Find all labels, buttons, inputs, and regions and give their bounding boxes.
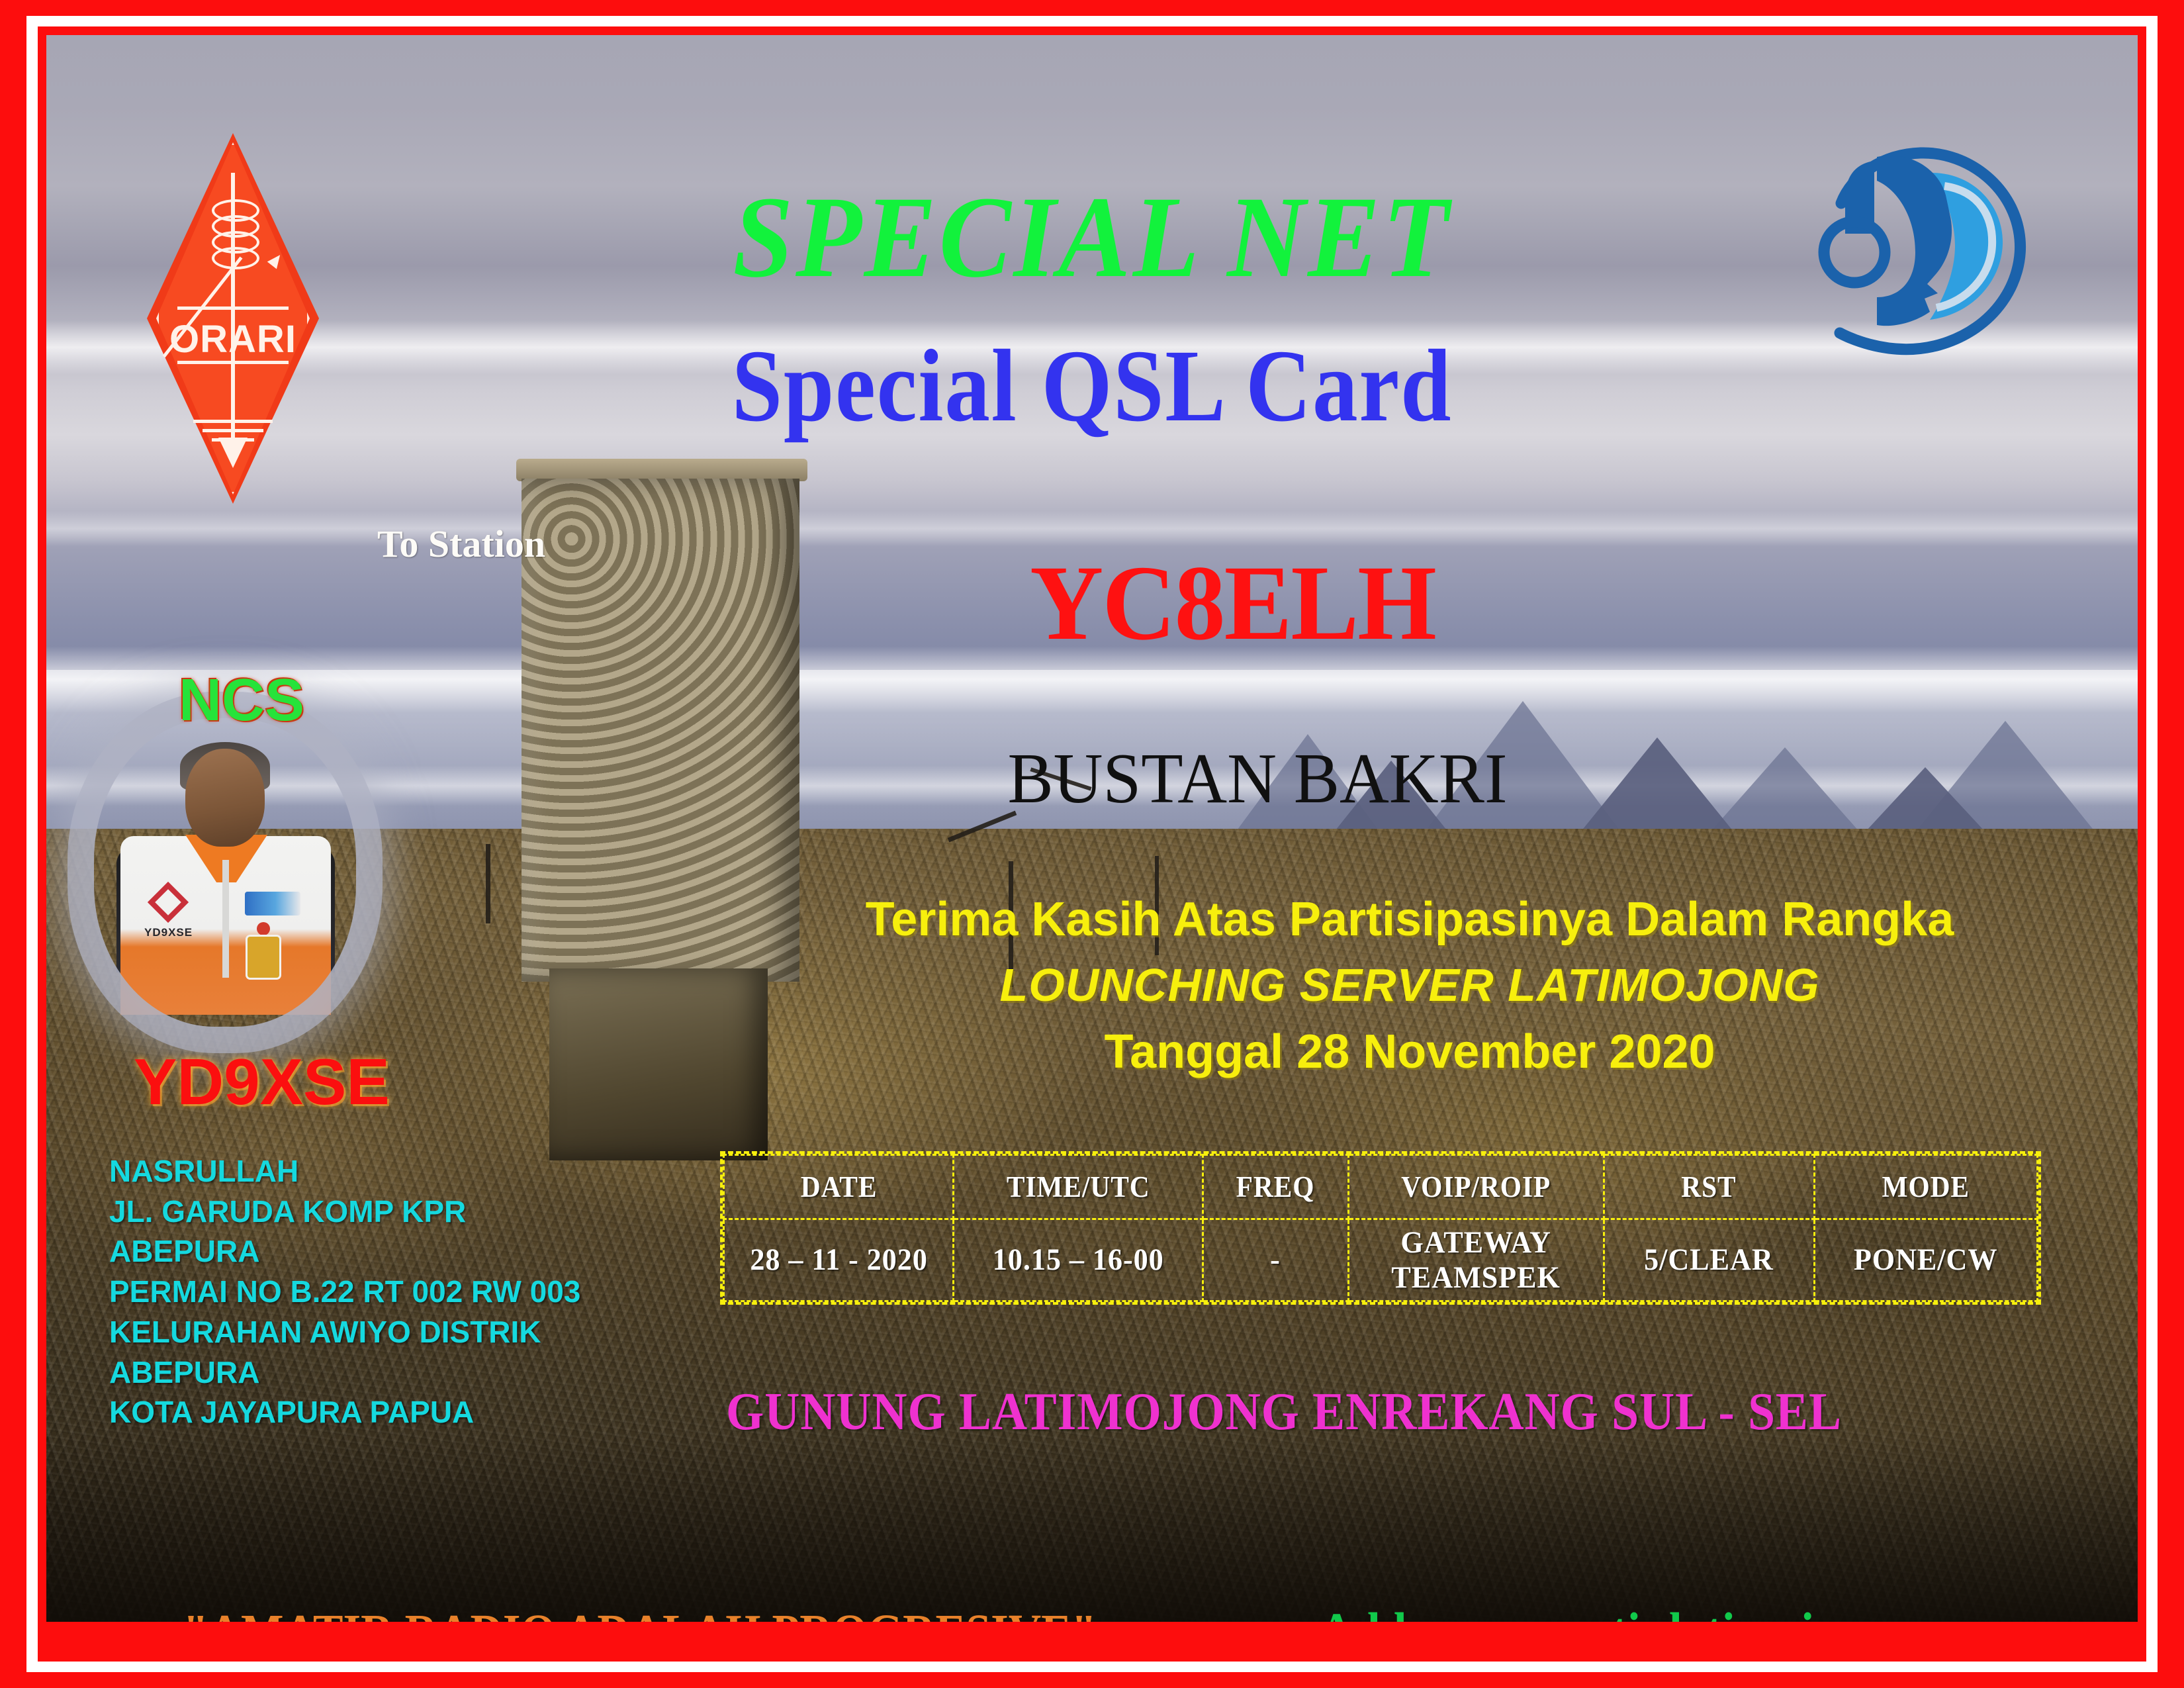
cell-date: 28 – 11 - 2020 [731, 1219, 946, 1301]
column-header-rst: RST [1612, 1155, 1805, 1219]
ncs-label: NCS [179, 671, 304, 730]
thanks-message: Terima Kasih Atas Partisipasinya Dalam R… [761, 896, 2058, 943]
motto-text: "AMATIR RADIO ADALAH PROGRESIVE" [183, 1607, 1097, 1622]
address-line: KOTA JAYAPURA PAPUA [109, 1392, 692, 1432]
card-photo-background: ORARI [46, 35, 2138, 1622]
operator-name: BUSTAN BAKRI [781, 743, 1734, 815]
cell-time: 10.15 – 16-00 [961, 1219, 1195, 1301]
page-title-special-net: SPECIAL NET [120, 179, 2065, 296]
column-header-time: TIME/UTC [964, 1155, 1193, 1219]
to-station-label: To Station [377, 525, 545, 563]
ncs-operator-photo: YD9XSE [106, 730, 344, 1015]
event-date: Tanggal 28 November 2020 [761, 1028, 2058, 1076]
ncs-callsign: YD9XSE [134, 1049, 390, 1114]
address-line: KELURAHAN AWIYO DISTRIK [109, 1312, 692, 1352]
column-header-freq: FREQ [1208, 1155, 1342, 1219]
qsl-card: ORARI [0, 0, 2184, 1688]
cell-voip: GATEWAY TEAMSPEK [1356, 1219, 1596, 1301]
site-caption: GUNUNG LATIMOJONG ENREKANG SUL - SEL [717, 1385, 1850, 1438]
cell-voip-line2: TEAMSPEK [1357, 1260, 1594, 1295]
station-address-block: NASRULLAH JL. GARUDA KOMP KPR ABEPURA PE… [109, 1151, 692, 1432]
tree-trunk [486, 844, 490, 923]
portrait-vignette [94, 718, 356, 1027]
address-line: ABEPURA [109, 1231, 692, 1272]
qso-log-table: DATE TIME/UTC FREQ VOIP/ROIP RST MODE 28… [720, 1151, 2041, 1305]
cell-mode: PONE/CW [1821, 1219, 2030, 1301]
logo-rule [177, 306, 289, 310]
event-title: LOUNCHING SERVER LATIMOJONG [761, 962, 2058, 1008]
cell-rst: 5/CLEAR [1610, 1219, 1808, 1301]
cell-freq: - [1207, 1219, 1344, 1301]
column-header-mode: MODE [1823, 1155, 2028, 1219]
address-line: PERMAI NO B.22 RT 002 RW 003 [109, 1272, 692, 1312]
column-header-voip: VOIP/ROIP [1359, 1155, 1594, 1219]
website-address: Address : amatir.latimojong.com [1320, 1605, 1985, 1622]
table-header-row: DATE TIME/UTC FREQ VOIP/ROIP RST MODE [724, 1155, 2038, 1219]
address-line: NASRULLAH [109, 1151, 692, 1192]
address-line: JL. GARUDA KOMP KPR [109, 1192, 692, 1232]
diamond-tip-icon [218, 438, 248, 468]
column-header-date: DATE [733, 1155, 944, 1219]
address-line: ABEPURA [109, 1352, 692, 1393]
foreground-shadow [46, 1431, 2138, 1622]
cloud-streak [46, 511, 2138, 546]
page-subtitle-special-qsl-card: Special QSL Card [172, 334, 2013, 438]
table-row: 28 – 11 - 2020 10.15 – 16-00 - GATEWAY T… [724, 1219, 2038, 1301]
cell-voip-line1: GATEWAY [1357, 1225, 1594, 1260]
station-callsign: YC8ELH [1030, 550, 1435, 657]
